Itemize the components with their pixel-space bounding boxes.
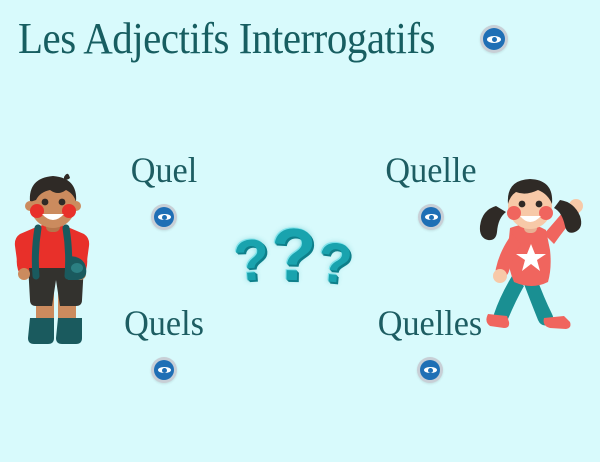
question-marks-graphic: ? ? ? bbox=[218, 198, 368, 290]
eye-pupil bbox=[429, 215, 434, 220]
audio-icon-quelles[interactable] bbox=[417, 357, 443, 383]
eye-pupil bbox=[162, 368, 167, 373]
word-label-quels: Quels bbox=[124, 305, 204, 341]
slide-canvas: Les Adjectifs Interrogatifs Quel Quelle … bbox=[0, 0, 600, 462]
audio-icon-quelle[interactable] bbox=[418, 204, 444, 230]
boy-svg bbox=[6, 168, 98, 352]
question-mark-2: ? bbox=[270, 219, 316, 290]
title-row: Les Adjectifs Interrogatifs bbox=[18, 16, 508, 62]
question-mark-1: ? bbox=[232, 232, 271, 289]
word-label-quelles: Quelles bbox=[378, 305, 482, 341]
eye-pupil bbox=[492, 37, 497, 42]
title-audio-icon[interactable] bbox=[480, 25, 508, 53]
audio-icon-quels[interactable] bbox=[151, 357, 177, 383]
audio-icon-quel[interactable] bbox=[151, 204, 177, 230]
question-mark-3: ? bbox=[316, 234, 355, 290]
boy-illustration bbox=[6, 168, 98, 352]
word-label-quelle: Quelle bbox=[385, 152, 476, 188]
word-cell-quel: Quel bbox=[104, 152, 224, 230]
page-title: Les Adjectifs Interrogatifs bbox=[18, 16, 435, 62]
girl-illustration bbox=[474, 172, 590, 344]
eye-pupil bbox=[428, 368, 433, 373]
eye-pupil bbox=[162, 215, 167, 220]
word-cell-quels: Quels bbox=[104, 305, 224, 383]
word-label-quel: Quel bbox=[131, 152, 197, 188]
girl-svg bbox=[474, 172, 590, 344]
